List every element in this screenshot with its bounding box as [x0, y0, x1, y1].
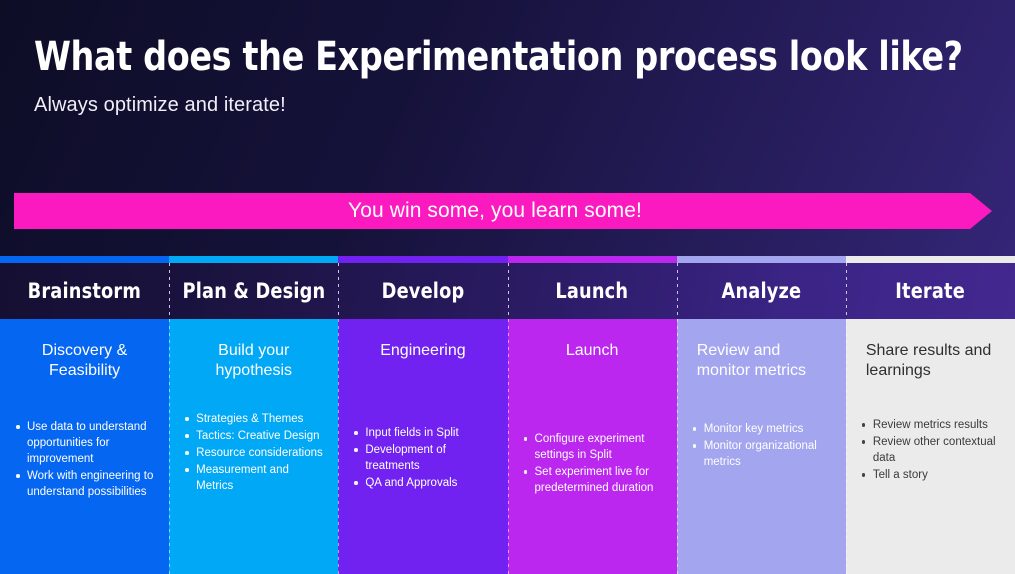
stage-column-brainstorm[interactable]: Discovery & Feasibility Use data to unde… — [0, 319, 169, 574]
list-item: Strategies & Themes — [183, 411, 324, 427]
stage-bullet-list: Review metrics resultsReview other conte… — [860, 417, 1001, 483]
stage-header-plan-design[interactable]: Plan & Design — [169, 256, 338, 319]
stage-header-launch[interactable]: Launch — [508, 256, 677, 319]
stage-bullet-list: Use data to understand opportunities for… — [14, 419, 155, 500]
list-item: Development of treatments — [352, 442, 493, 474]
stage-subtitle: Engineering — [352, 341, 493, 383]
stage-header-develop[interactable]: Develop — [338, 256, 507, 319]
stage-header-brainstorm[interactable]: Brainstorm — [0, 256, 169, 319]
list-item: Input fields in Split — [352, 425, 493, 441]
accent-swatch-analyze — [677, 256, 846, 263]
list-item: Review other contextual data — [860, 434, 1001, 466]
stage-bullet-list: Strategies & ThemesTactics: Creative Des… — [183, 411, 324, 494]
list-item: QA and Approvals — [352, 475, 493, 491]
accent-swatch-develop — [338, 256, 507, 263]
list-item: Monitor organizational metrics — [691, 438, 832, 470]
page-subtitle: Always optimize and iterate! — [34, 92, 286, 118]
list-item: Resource considerations — [183, 445, 324, 461]
stage-bullet-list: Monitor key metricsMonitor organizationa… — [691, 421, 832, 470]
stage-header-label: Analyze — [721, 279, 801, 303]
stage-subtitle: Build your hypothesis — [183, 341, 324, 383]
stage-header-label: Iterate — [896, 279, 966, 303]
list-item: Review metrics results — [860, 417, 1001, 433]
list-item: Tactics: Creative Design — [183, 428, 324, 444]
list-item: Tell a story — [860, 467, 1001, 483]
stage-subtitle: Discovery & Feasibility — [14, 341, 155, 383]
page-title: What does the Experimentation process lo… — [34, 34, 963, 80]
accent-swatch-plan-design — [169, 256, 338, 263]
highlight-banner: You win some, you learn some! — [14, 193, 992, 229]
accent-swatch-iterate — [846, 256, 1015, 263]
accent-swatch-launch — [508, 256, 677, 263]
list-item: Work with engineering to understand poss… — [14, 468, 155, 500]
stage-columns: Discovery & Feasibility Use data to unde… — [0, 319, 1015, 574]
stage-subtitle: Launch — [522, 341, 663, 383]
stage-column-plan-design[interactable]: Build your hypothesis Strategies & Theme… — [169, 319, 338, 574]
list-item: Use data to understand opportunities for… — [14, 419, 155, 467]
list-item: Configure experiment settings in Split — [522, 431, 663, 463]
stage-header-analyze[interactable]: Analyze — [677, 256, 846, 319]
stage-header-iterate[interactable]: Iterate — [846, 256, 1015, 319]
list-item: Monitor key metrics — [691, 421, 832, 437]
stage-subtitle: Share results and learnings — [860, 341, 1001, 383]
stage-bullet-list: Configure experiment settings in SplitSe… — [522, 431, 663, 496]
list-item: Set experiment live for predetermined du… — [522, 464, 663, 496]
stage-column-iterate[interactable]: Share results and learnings Review metri… — [846, 319, 1015, 574]
stage-column-develop[interactable]: Engineering Input fields in SplitDevelop… — [338, 319, 507, 574]
stage-header-label: Develop — [382, 279, 465, 303]
stage-column-analyze[interactable]: Review and monitor metrics Monitor key m… — [677, 319, 846, 574]
stage-column-launch[interactable]: Launch Configure experiment settings in … — [508, 319, 677, 574]
slide-canvas: What does the Experimentation process lo… — [0, 0, 1015, 574]
stage-bullet-list: Input fields in SplitDevelopment of trea… — [352, 425, 493, 491]
accent-swatch-brainstorm — [0, 256, 169, 263]
stage-header-label: Brainstorm — [28, 279, 141, 303]
stage-header-label: Launch — [556, 279, 629, 303]
list-item: Measurement and Metrics — [183, 462, 324, 494]
stage-subtitle: Review and monitor metrics — [691, 341, 832, 383]
stage-accent-bar — [0, 256, 1015, 263]
highlight-banner-text: You win some, you learn some! — [348, 199, 642, 223]
stage-header-label: Plan & Design — [182, 279, 325, 303]
stage-header-band: Brainstorm Plan & Design Develop Launch … — [0, 256, 1015, 319]
